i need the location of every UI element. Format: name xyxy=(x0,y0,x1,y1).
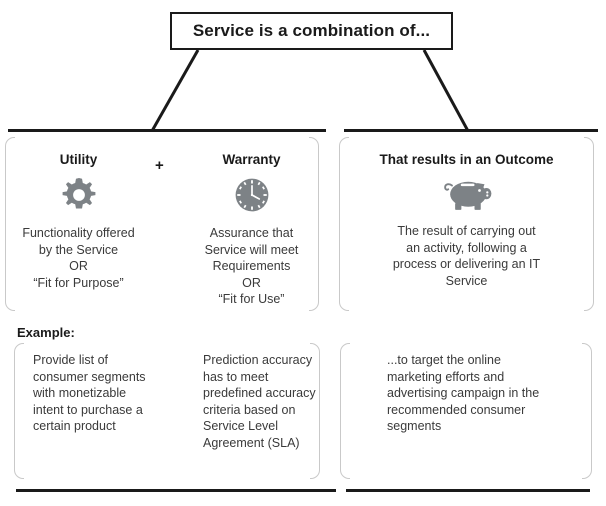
example-outcome: ...to target the online marketing effort… xyxy=(387,352,559,435)
plus-operator: + xyxy=(155,158,164,173)
warranty-body: Assurance that Service will meet Require… xyxy=(183,225,320,308)
diagram-canvas: Service is a combination of... Utility F… xyxy=(0,0,606,506)
example-utility-text: Provide list of consumer segments with m… xyxy=(33,352,148,435)
connector-line-right xyxy=(424,50,468,131)
example-outcome-text: ...to target the online marketing effort… xyxy=(387,352,559,435)
page-title: Service is a combination of... xyxy=(193,21,430,41)
outcome-heading: That results in an Outcome xyxy=(349,152,584,168)
gear-icon xyxy=(58,174,100,216)
utility-heading: Utility xyxy=(10,152,147,168)
divider-top-right xyxy=(344,129,598,132)
title-box: Service is a combination of... xyxy=(170,12,453,50)
divider-top-left xyxy=(8,129,326,132)
example-warranty-text: Prediction accuracy has to meet predefin… xyxy=(203,352,325,451)
outcome-body: The result of carrying out an activity, … xyxy=(349,223,584,289)
warranty-heading: Warranty xyxy=(183,152,320,168)
divider-bottom-left xyxy=(16,489,336,492)
column-warranty: Warranty Assurance xyxy=(183,152,320,308)
piggy-bank-icon xyxy=(437,172,497,214)
example-label: Example: xyxy=(17,325,75,340)
column-outcome: That results in an Outcome The result of… xyxy=(349,152,584,289)
column-utility: Utility Functionality offered by the Ser… xyxy=(10,152,147,291)
connector-line-left xyxy=(152,50,198,131)
divider-bottom-right xyxy=(346,489,590,492)
example-warranty: Prediction accuracy has to meet predefin… xyxy=(203,352,325,451)
utility-body: Functionality offered by the Service OR … xyxy=(10,225,147,291)
example-utility: Provide list of consumer segments with m… xyxy=(33,352,148,435)
clock-icon xyxy=(231,174,273,216)
